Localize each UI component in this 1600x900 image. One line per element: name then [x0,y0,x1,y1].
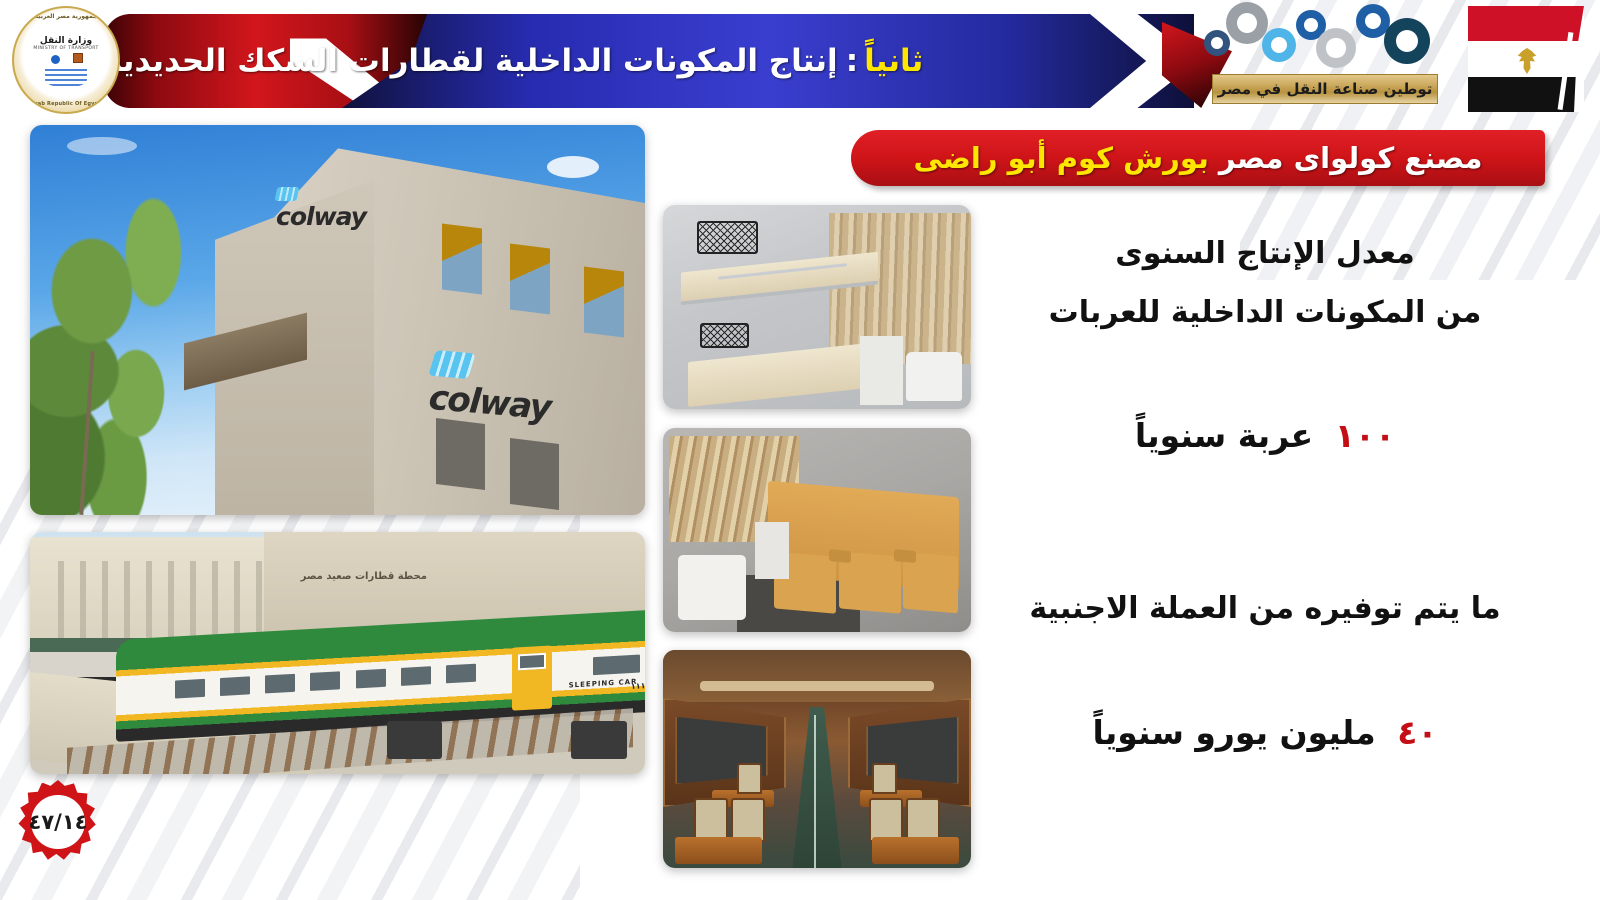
slide-header: جمهورية مصر العربية وزارة النقل MINISTRY… [0,0,1600,122]
stat2-unit: مليون يورو سنوياً [1093,713,1376,752]
stat2-value-row: ٤٠ مليون يورو سنوياً [980,701,1550,765]
train-car-label-en: SLEEPING CAR [569,678,638,690]
factory-roof-logo: colway [276,187,381,249]
statistics-column: معدل الإنتاج السنوى من المكونات الداخلية… [980,225,1550,765]
stat-block-production: معدل الإنتاج السنوى من المكونات الداخلية… [980,225,1550,468]
stat1-line2: من المكونات الداخلية للعربات [980,284,1550,343]
slide-title-separator: : [846,43,858,79]
stat1-unit: عربة سنوياً [1135,416,1313,455]
egypt-flag-map-icon [1468,6,1584,112]
photo-factory-building: colway colway [30,125,645,515]
photo-royal-saloon-interior [663,650,971,868]
photo-compartment-seats-interior [663,428,971,632]
stat1-line1: معدل الإنتاج السنوى [980,225,1550,284]
gear-icon-small-navy [1204,30,1230,56]
stat2-line1: ما يتم توفيره من العملة الاجنبية [980,580,1550,639]
factory-name-banner: مصنع كولواى مصر بورش كوم أبو راضى [851,130,1545,186]
banner-text-yellow: بورش كوم أبو راضى [914,141,1209,175]
factory-wall-logo: colway [427,350,554,428]
logo-emblem-icon [43,53,89,87]
slide-title-rest: إنتاج المكونات الداخلية لقطارات السكك ال… [104,43,838,79]
photo-sleeping-berth-interior [663,205,971,409]
stat-block-savings: ما يتم توفيره من العملة الاجنبية ٤٠ مليو… [980,580,1550,765]
logo-ring-bottom-text: Arab Republic Of Egypt [14,101,118,107]
page-number-badge: ٤٧/١٤ [16,780,100,864]
gear-icon-dark-teal [1384,18,1430,64]
gear-icon-lightblue [1262,28,1296,62]
logo-ring-top-text: جمهورية مصر العربية [14,13,118,20]
stat1-value-row: ١٠٠ عربة سنوياً [980,404,1550,468]
slide-title: ثانياً : إنتاج المكونات الداخلية لقطارات… [104,14,1074,108]
slide-title-highlight: ثانياً [864,43,923,79]
gear-icon-large-gray [1226,2,1268,44]
stat1-value: ١٠٠ [1335,416,1395,455]
logo-arabic-text: وزارة النقل [40,36,92,46]
train-car-number: ١١١١٣ [631,681,645,691]
ministry-of-transport-logo: جمهورية مصر العربية وزارة النقل MINISTRY… [12,6,120,114]
gear-icon-silver [1316,28,1356,68]
factory-tree [30,195,264,515]
station-sign-text: محطة قطارات صعيد مصر [301,571,427,582]
photo-sleeping-car-train: محطة قطارات صعيد مصر SLEEPING CAR ١١١١٣ [30,532,645,774]
banner-text-white: مصنع كولواى مصر [1219,141,1483,175]
title-ribbon: ثانياً : إنتاج المكونات الداخلية لقطارات… [104,14,1194,108]
stat2-value: ٤٠ [1397,713,1437,752]
gears-branding-panel: توطين صناعة النقل في مصر [1204,0,1452,118]
tagline-banner: توطين صناعة النقل في مصر [1212,74,1438,104]
logo-english-text: MINISTRY OF TRANSPORT [33,46,98,51]
page-number-text: ٤٧/١٤ [31,795,85,849]
factory-roof-logo-text: colway [276,202,366,231]
